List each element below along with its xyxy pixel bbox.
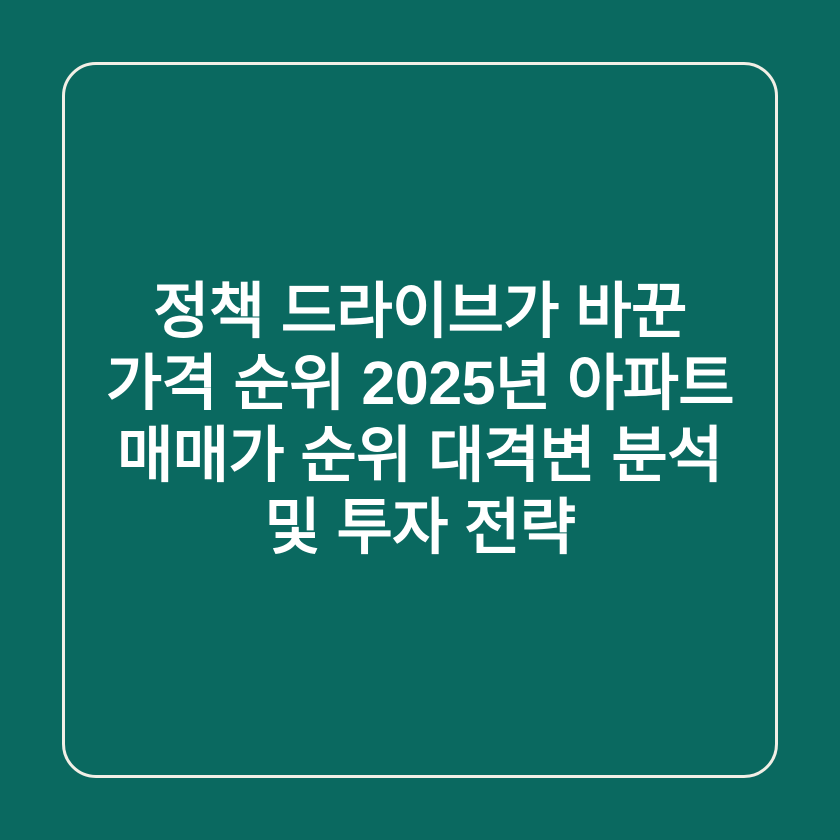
title-card: 정책 드라이브가 바꾼 가격 순위 2025년 아파트 매매가 순위 대격변 분… bbox=[62, 62, 778, 778]
page-title: 정책 드라이브가 바꾼 가격 순위 2025년 아파트 매매가 순위 대격변 분… bbox=[100, 276, 740, 564]
